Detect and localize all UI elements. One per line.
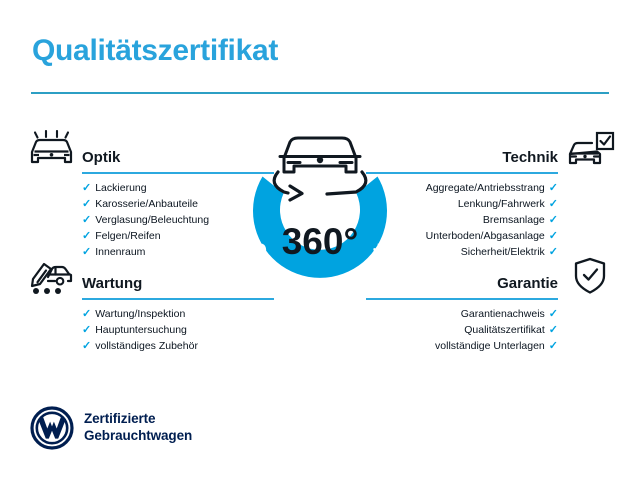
- shield-check-icon: [564, 256, 616, 296]
- check-icon: ✓: [82, 180, 91, 196]
- list-item: ✓Felgen/Reifen: [82, 228, 209, 244]
- list-item-label: Wartung/Inspektion: [95, 308, 185, 320]
- car-service-pen-icon: [24, 256, 76, 296]
- 360-check-badge: 360° Gebrauchtwagen-Check: [232, 118, 408, 318]
- check-icon: ✓: [549, 228, 558, 244]
- list-item-label: vollständiges Zubehör: [95, 340, 198, 352]
- section-title: Wartung: [82, 275, 142, 292]
- car-checkbox-icon: [564, 130, 616, 170]
- footer-line-1: Zertifizierte: [84, 411, 155, 426]
- section-title: Technik: [502, 149, 558, 166]
- check-icon: ✓: [82, 338, 91, 354]
- list-item: Qualitätszertifikat✓: [435, 322, 558, 338]
- check-icon: ✓: [549, 322, 558, 338]
- list-item: Lenkung/Fahrwerk✓: [426, 196, 558, 212]
- volkswagen-logo: [30, 406, 74, 450]
- volkswagen-footer: Zertifizierte Gebrauchtwagen: [30, 404, 260, 456]
- list-item-label: Hauptuntersuchung: [95, 324, 187, 336]
- list-item: Garantienachweis✓: [435, 306, 558, 322]
- list-item-label: Karosserie/Anbauteile: [95, 198, 198, 210]
- checklist-garantie: Garantienachweis✓ Qualitätszertifikat✓ v…: [435, 306, 558, 354]
- check-icon: ✓: [82, 228, 91, 244]
- list-item-label: vollständige Unterlagen: [435, 340, 545, 352]
- list-item: Aggregate/Antriebsstrang✓: [426, 180, 558, 196]
- page-title: Qualitätszertifikat: [32, 34, 278, 68]
- list-item-label: Aggregate/Antriebsstrang: [426, 182, 545, 194]
- checklist-technik: Aggregate/Antriebsstrang✓ Lenkung/Fahrwe…: [426, 180, 558, 260]
- check-icon: ✓: [549, 180, 558, 196]
- list-item: ✓vollständiges Zubehör: [82, 338, 198, 354]
- list-item-label: Lenkung/Fahrwerk: [458, 198, 545, 210]
- list-item-label: Garantienachweis: [461, 308, 545, 320]
- list-item-label: Lackierung: [95, 182, 146, 194]
- footer-line-2: Gebrauchtwagen: [84, 428, 192, 443]
- list-item: vollständige Unterlagen✓: [435, 338, 558, 354]
- checklist-optik: ✓Lackierung ✓Karosserie/Anbauteile ✓Verg…: [82, 180, 209, 260]
- list-item-label: Verglasung/Beleuchtung: [95, 214, 209, 226]
- title-divider: [31, 92, 609, 94]
- volkswagen-footer-text: Zertifizierte Gebrauchtwagen: [84, 410, 192, 444]
- list-item: Unterboden/Abgasanlage✓: [426, 228, 558, 244]
- check-icon: ✓: [549, 196, 558, 212]
- check-icon: ✓: [82, 322, 91, 338]
- list-item: ✓Karosserie/Anbauteile: [82, 196, 209, 212]
- check-icon: ✓: [549, 212, 558, 228]
- section-title: Optik: [82, 149, 120, 166]
- car-shine-icon: [24, 130, 76, 170]
- list-item: ✓Verglasung/Beleuchtung: [82, 212, 209, 228]
- check-icon: ✓: [82, 212, 91, 228]
- list-item: ✓Wartung/Inspektion: [82, 306, 198, 322]
- check-icon: ✓: [82, 196, 91, 212]
- quality-certificate-page: Qualitätszertifikat: [0, 0, 640, 480]
- rotating-car-icon: [274, 138, 366, 200]
- check-icon: ✓: [549, 306, 558, 322]
- badge-degrees: 360°: [282, 221, 359, 262]
- list-item: ✓Lackierung: [82, 180, 209, 196]
- list-item: Bremsanlage✓: [426, 212, 558, 228]
- list-item-label: Qualitätszertifikat: [464, 324, 545, 336]
- check-icon: ✓: [549, 338, 558, 354]
- checklist-wartung: ✓Wartung/Inspektion ✓Hauptuntersuchung ✓…: [82, 306, 198, 354]
- list-item: ✓Hauptuntersuchung: [82, 322, 198, 338]
- list-item-label: Unterboden/Abgasanlage: [426, 230, 545, 242]
- list-item-label: Bremsanlage: [483, 214, 545, 226]
- section-title: Garantie: [497, 275, 558, 292]
- list-item-label: Felgen/Reifen: [95, 230, 160, 242]
- check-icon: ✓: [82, 306, 91, 322]
